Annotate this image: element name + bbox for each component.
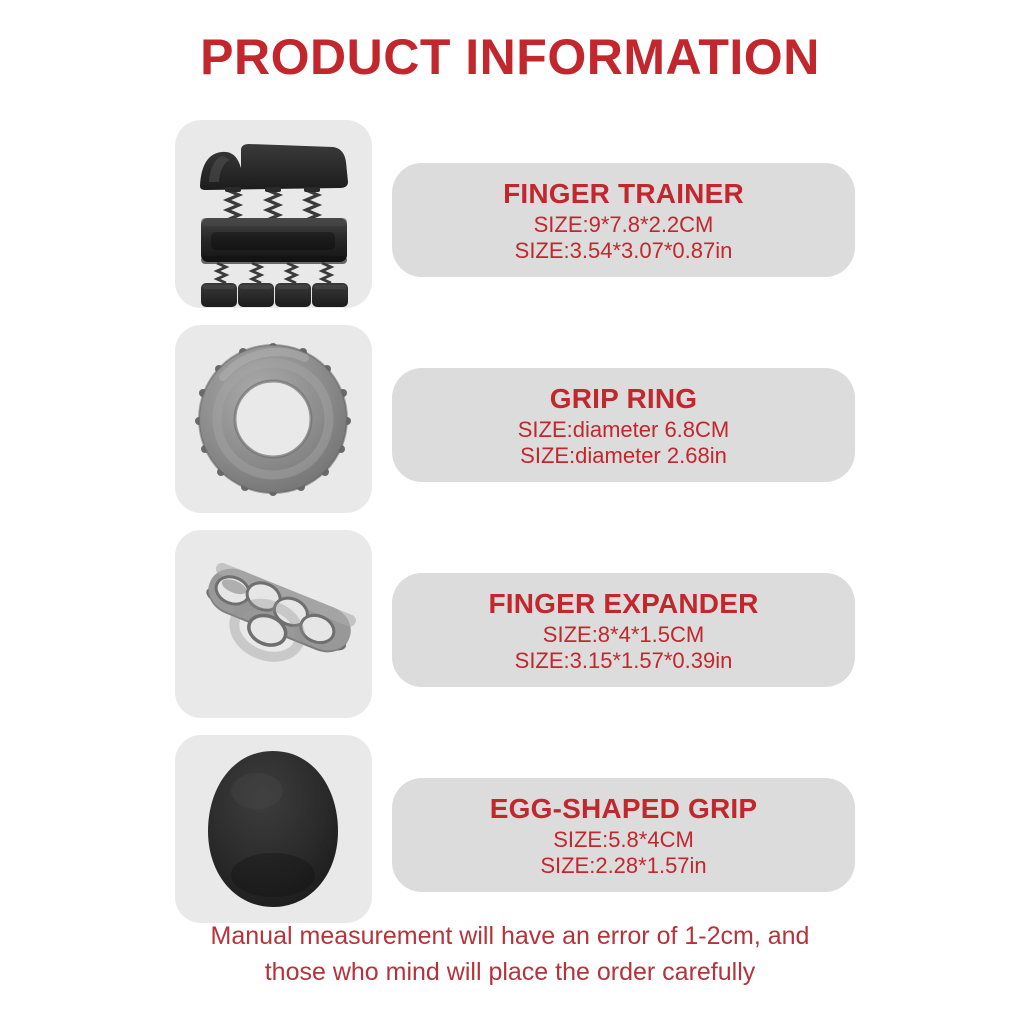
product-row: FINGER EXPANDER SIZE:8*4*1.5CM SIZE:3.15… [0,528,1020,733]
disclaimer-line-1: Manual measurement will have an error of… [0,918,1020,954]
product-name: FINGER EXPANDER [488,589,758,619]
product-label-card: EGG-SHAPED GRIP SIZE:5.8*4CM SIZE:2.28*1… [392,778,855,892]
product-row: FINGER TRAINER SIZE:9*7.8*2.2CM SIZE:3.5… [0,118,1020,323]
disclaimer-line-2: those who mind will place the order care… [0,954,1020,990]
product-size-in: SIZE:3.54*3.07*0.87in [515,238,733,264]
product-row: GRIP RING SIZE:diameter 6.8CM SIZE:diame… [0,323,1020,528]
egg-shaped-grip-icon [175,735,372,923]
product-name: FINGER TRAINER [503,179,744,209]
product-list: FINGER TRAINER SIZE:9*7.8*2.2CM SIZE:3.5… [0,118,1020,938]
grip-ring-icon [175,325,372,513]
product-label-card: FINGER EXPANDER SIZE:8*4*1.5CM SIZE:3.15… [392,573,855,687]
product-size-cm: SIZE:diameter 6.8CM [518,417,730,443]
product-image-tile [175,530,372,718]
product-name: EGG-SHAPED GRIP [490,794,757,824]
page-title: PRODUCT INFORMATION [0,30,1020,85]
product-size-cm: SIZE:8*4*1.5CM [543,622,704,648]
product-label-card: FINGER TRAINER SIZE:9*7.8*2.2CM SIZE:3.5… [392,163,855,277]
finger-trainer-icon [175,120,372,308]
product-size-in: SIZE:2.28*1.57in [540,853,706,879]
product-size-cm: SIZE:5.8*4CM [553,827,694,853]
product-name: GRIP RING [550,384,698,414]
product-row: EGG-SHAPED GRIP SIZE:5.8*4CM SIZE:2.28*1… [0,733,1020,938]
product-label-card: GRIP RING SIZE:diameter 6.8CM SIZE:diame… [392,368,855,482]
product-image-tile [175,120,372,308]
product-information-page: PRODUCT INFORMATION [0,0,1020,1020]
finger-expander-icon [175,530,372,718]
disclaimer-note: Manual measurement will have an error of… [0,918,1020,991]
product-size-cm: SIZE:9*7.8*2.2CM [534,212,714,238]
product-size-in: SIZE:diameter 2.68in [520,443,727,469]
product-image-tile [175,735,372,923]
product-image-tile [175,325,372,513]
product-size-in: SIZE:3.15*1.57*0.39in [515,648,733,674]
